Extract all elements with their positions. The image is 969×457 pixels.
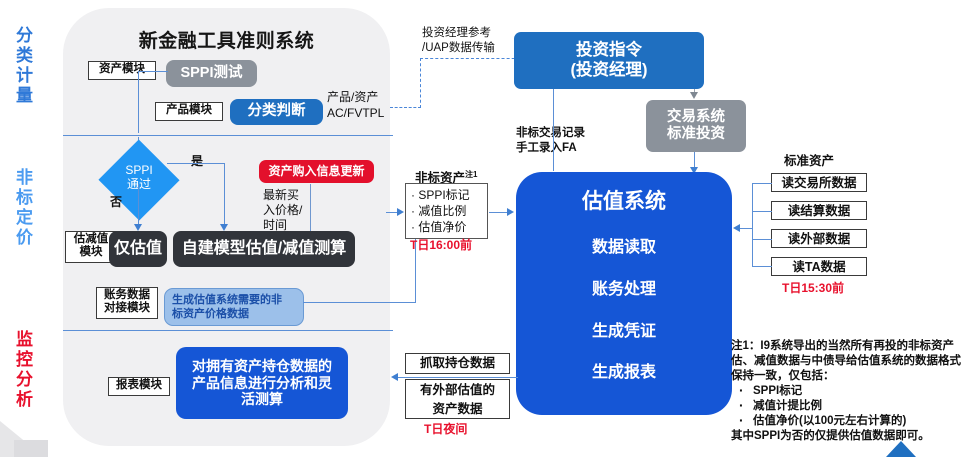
arrow-right-to-valuation — [733, 224, 740, 232]
footnote-item: SPPI标记 — [731, 384, 969, 399]
trading-system-box[interactable]: 交易系统 标准投资 — [646, 100, 746, 152]
report-analysis-box[interactable]: 对拥有资产持仓数据的 产品信息进行分析和灵 活测算 — [176, 347, 348, 419]
category-char: 分 — [8, 26, 42, 46]
footnote-item: 减值计提比例 — [731, 399, 969, 414]
valuation-system-title: 估值系统 — [516, 190, 732, 215]
investment-order-line1: 投资指令 — [571, 41, 648, 60]
category-char: 析 — [8, 390, 42, 410]
footnote-list: SPPI标记 减值计提比例 估值净价(以100元左右计算的) — [731, 384, 969, 429]
arrow-position-out — [391, 373, 398, 381]
list-item: · 估值净价 — [411, 219, 481, 235]
list-item: · SPPI标记 — [411, 187, 481, 203]
category-char: 分类计量 — [8, 26, 42, 106]
page-title: 新金融工具准则系统 — [63, 26, 390, 53]
standard-asset-heading: 标准资产 — [784, 154, 834, 168]
self-model-valuation-box[interactable]: 自建模型估值/减值测算 — [173, 231, 355, 267]
footnote-block: 注1：I9系统导出的当然所有再投的非标资产估、减值数据与中债导给估值系统的数据格… — [731, 339, 969, 444]
branch-label-yes: 是 — [191, 154, 203, 168]
external-valuation-data-box[interactable]: 有外部估值的 资产数据 — [405, 379, 510, 419]
valuation-system-box[interactable]: 估值系统 数据读取 账务处理 生成凭证 生成报表 — [516, 172, 732, 415]
arrow-order-to-trading — [690, 92, 698, 99]
connector-purchase-down — [310, 184, 311, 234]
connector-asset-down — [138, 71, 139, 133]
list-item: · 减值比例 — [411, 203, 481, 219]
connector-manual-entry — [553, 89, 554, 171]
connector-nonstandard-to-valuation — [489, 212, 509, 213]
connector-right-b2 — [752, 239, 772, 240]
connector-right-bracket — [752, 183, 753, 267]
connector-right-trunk — [740, 228, 753, 229]
category-char: 监控分析 — [8, 330, 42, 410]
connector-yes-v — [224, 163, 225, 225]
trading-system-line2: 标准投资 — [667, 126, 725, 143]
branch-label-no: 否 — [110, 195, 122, 209]
divider-monitoring — [63, 330, 393, 331]
nonstandard-asset-sup: 注1 — [465, 170, 477, 179]
connector-right-b0 — [752, 183, 772, 184]
arrow-nonstandard-to-valuation — [507, 208, 514, 216]
read-exchange-data-box[interactable]: 读交易所数据 — [771, 173, 867, 192]
classify-judge-box[interactable]: 分类判断 — [230, 99, 323, 125]
read-ta-data-box[interactable]: 读TA数据 — [771, 257, 867, 276]
footnote-tail: 其中SPPI为否的仅提供估值数据即可。 — [731, 429, 969, 444]
module-tag-accounting: 账务数据 对接模块 — [96, 287, 158, 319]
valuation-item-0: 数据读取 — [516, 239, 732, 258]
category-char: 价 — [8, 228, 42, 248]
valuation-item-2: 生成凭证 — [516, 323, 732, 342]
nonstandard-asset-list: · SPPI标记 · 减值比例 · 估值净价 — [405, 183, 488, 239]
sppi-decision-line1: SPPI — [125, 163, 152, 177]
valuation-item-3: 生成报表 — [516, 364, 732, 383]
category-char: 定 — [8, 208, 42, 228]
module-tag-report: 报表模块 — [108, 377, 170, 396]
external-deadline: T日夜间 — [424, 422, 467, 436]
dashed-line-left — [390, 107, 421, 108]
valuation-item-1: 账务处理 — [516, 281, 732, 300]
asset-purchase-update-box[interactable]: 资产购入信息更新 — [259, 160, 374, 183]
investment-order-box[interactable]: 投资指令 (投资经理) — [514, 32, 704, 89]
connector-right-b1 — [752, 211, 772, 212]
investment-order-line2: (投资经理) — [571, 61, 648, 80]
read-external-data-box[interactable]: 读外部数据 — [771, 229, 867, 248]
footnote-item: 估值净价(以100元左右计算的) — [731, 414, 969, 429]
sppi-test-box[interactable]: SPPI测试 — [166, 60, 257, 87]
generate-price-data-callout: 生成估值系统需要的非 标资产价格数据 — [164, 288, 304, 326]
connector-callout-h — [303, 302, 416, 303]
category-label-classification-measurement: 分类计量 — [8, 26, 42, 106]
category-char: 计 — [8, 66, 42, 86]
arrow-into-nonstandard — [397, 208, 404, 216]
asset-purchase-detail: 最新买 入价格/ 时间 — [263, 188, 302, 233]
diagram-canvas: 分类计量 非标定价 监控分析 新金融工具准则系统 资产模块 SPPI测试 产品模… — [0, 0, 969, 457]
trading-system-line1: 交易系统 — [667, 109, 725, 126]
category-char: 非标定价 — [8, 168, 42, 248]
category-char: 监 — [8, 330, 42, 350]
category-char: 控 — [8, 350, 42, 370]
standard-asset-deadline: T日15:30前 — [782, 281, 844, 295]
connector-position-out — [398, 377, 518, 378]
category-char: 标 — [8, 188, 42, 208]
classify-note-line2: AC/FVTPL — [327, 106, 384, 120]
classify-note-line1: 产品/资产 — [327, 90, 378, 104]
connector-no-v — [138, 184, 139, 226]
nonstandard-deadline: T日16:00前 — [410, 238, 472, 252]
category-label-monitoring-analysis: 监控分析 — [8, 330, 42, 410]
divider-classification — [63, 135, 393, 136]
footnote-head: 注1：I9系统导出的当然所有再投的非标资产估、减值数据与中债导给估值系统的数据格… — [731, 339, 969, 384]
dashed-connector-label: 投资经理参考 /UAP数据传输 — [422, 26, 495, 56]
connector-yes-h — [167, 163, 225, 164]
module-tag-product: 产品模块 — [155, 102, 223, 121]
arrow-no-down — [134, 224, 142, 231]
dashed-line-vert — [420, 58, 421, 108]
decorative-corner-block — [14, 440, 48, 457]
category-char: 非 — [8, 168, 42, 188]
only-valuation-box[interactable]: 仅估值 — [109, 231, 167, 267]
arrow-yes-down — [220, 224, 228, 231]
fetch-position-data-box[interactable]: 抓取持仓数据 — [405, 353, 510, 374]
category-char: 量 — [8, 86, 42, 106]
connector-asset-right — [138, 71, 168, 72]
connector-right-b3 — [752, 266, 772, 267]
category-char: 类 — [8, 46, 42, 66]
category-label-nonstandard-pricing: 非标定价 — [8, 168, 42, 248]
category-char: 分 — [8, 370, 42, 390]
manual-entry-label: 非标交易记录 手工录入FA — [516, 126, 585, 156]
read-settlement-data-box[interactable]: 读结算数据 — [771, 201, 867, 220]
